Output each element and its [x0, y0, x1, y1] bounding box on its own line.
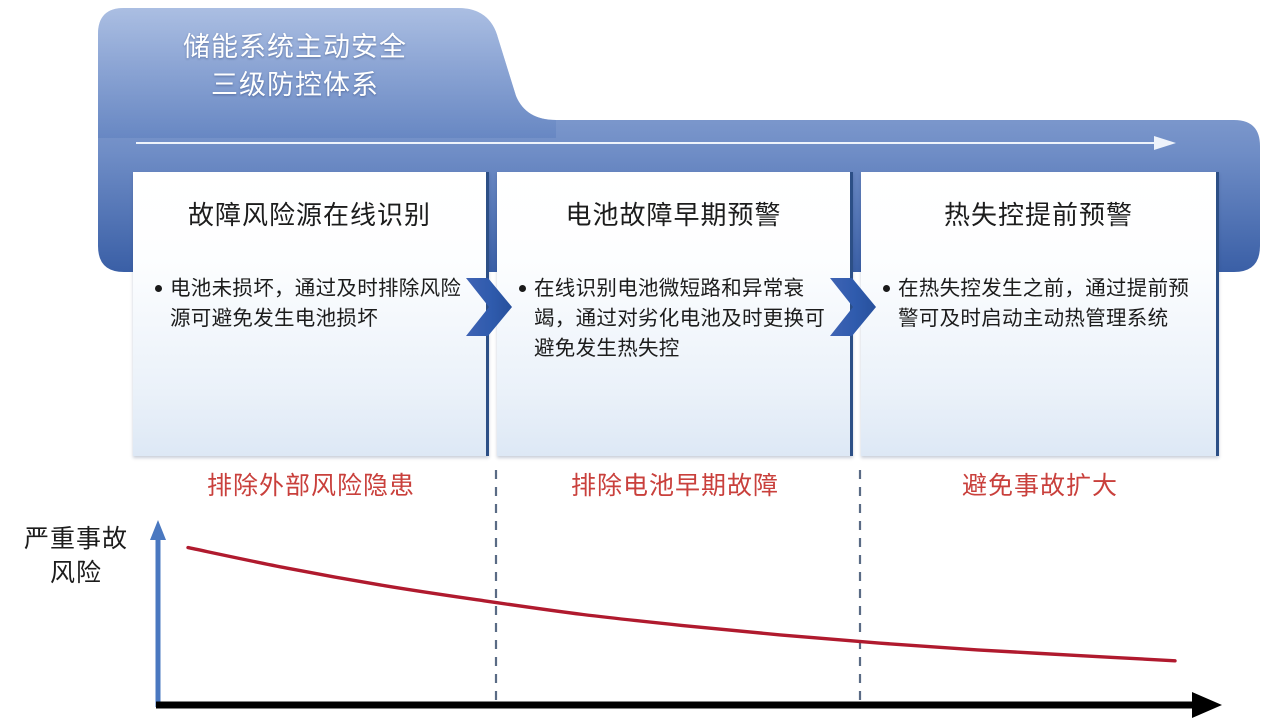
slide-canvas: 储能系统主动安全 三级防控体系 故障风险源在线识别 电池未损坏，通过及时排除风险…	[0, 0, 1269, 721]
risk-curve-line	[188, 548, 1175, 661]
stage-2-heading: 电池故障早期预警	[497, 198, 850, 232]
stage-1-heading: 故障风险源在线识别	[133, 198, 486, 232]
stage-panel-1[interactable]: 故障风险源在线识别 电池未损坏，通过及时排除风险源可避免发生电池损坏	[133, 172, 489, 456]
banner-title: 储能系统主动安全 三级防控体系	[120, 28, 470, 104]
stage-1-body: 电池未损坏，通过及时排除风险源可避免发生电池损坏	[143, 274, 472, 334]
chevron-right-icon	[826, 276, 878, 338]
stage-3-heading: 热失控提前预警	[861, 198, 1216, 232]
stage-panel-3[interactable]: 热失控提前预警 在热失控发生之前，通过提前预警可及时启动主动热管理系统	[861, 172, 1219, 456]
stage-2-body: 在线识别电池微短路和异常衰竭，通过对劣化电池及时更换可避免发生热失控	[507, 274, 836, 364]
stage-panel-2[interactable]: 电池故障早期预警 在线识别电池微短路和异常衰竭，通过对劣化电池及时更换可避免发生…	[497, 172, 853, 456]
banner-title-line2: 三级防控体系	[120, 66, 470, 104]
stage-2-bullet: 在线识别电池微短路和异常衰竭，通过对劣化电池及时更换可避免发生热失控	[534, 274, 836, 364]
bullet-icon	[519, 285, 526, 292]
banner-title-line1: 储能系统主动安全	[183, 32, 407, 62]
risk-decay-chart	[0, 460, 1269, 721]
chevron-right-icon	[462, 276, 514, 338]
chart-svg	[0, 460, 1269, 721]
right-arrow-icon	[136, 134, 1176, 152]
bullet-icon	[883, 285, 890, 292]
stage-3-body: 在热失控发生之前，通过提前预警可及时启动主动热管理系统	[871, 274, 1202, 334]
x-axis-arrow-icon	[1192, 692, 1222, 718]
stage-1-bullet: 电池未损坏，通过及时排除风险源可避免发生电池损坏	[170, 274, 472, 334]
stage-3-bullet: 在热失控发生之前，通过提前预警可及时启动主动热管理系统	[898, 274, 1202, 334]
bullet-icon	[155, 285, 162, 292]
y-axis-arrow-icon	[150, 520, 166, 540]
